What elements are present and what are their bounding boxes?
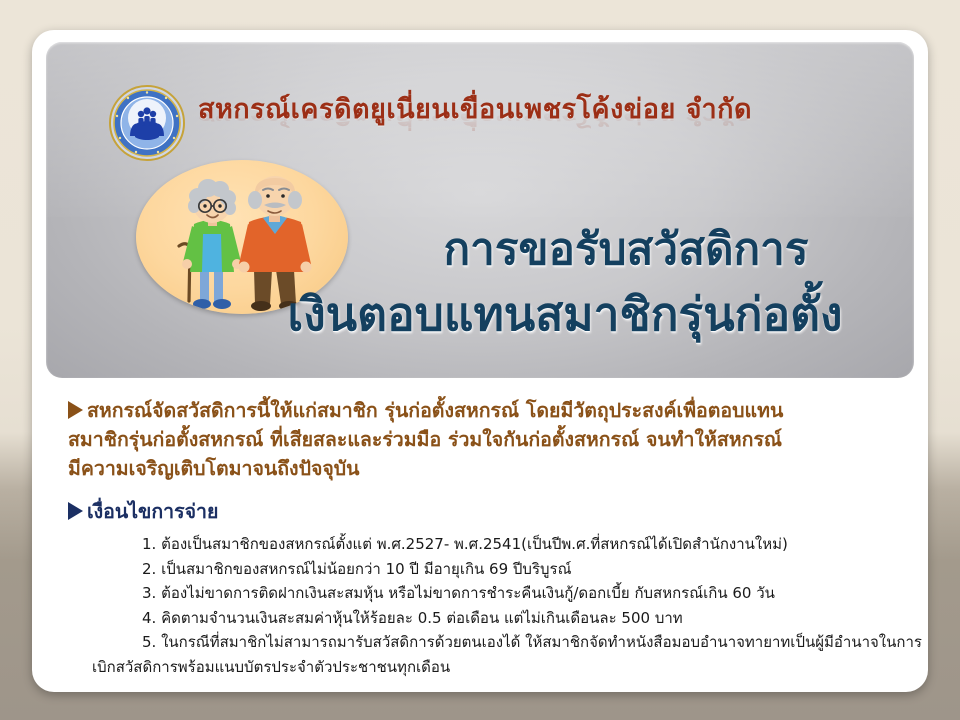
- intro-line-1-text: สหกรณ์จัดสวัสดิการนี้ให้แก่สมาชิก รุ่นก่…: [87, 399, 783, 422]
- intro-paragraph: สหกรณ์จัดสวัสดิการนี้ให้แก่สมาชิก รุ่นก่…: [68, 396, 908, 483]
- triangle-bullet-icon: [68, 401, 83, 419]
- list-item: 1. ต้องเป็นสมาชิกของสหกรณ์ตั้งแต่ พ.ศ.25…: [92, 532, 928, 557]
- slide-title-line-1: การขอรับสวัสดิการ: [346, 218, 906, 282]
- intro-line-1: สหกรณ์จัดสวัสดิการนี้ให้แก่สมาชิก รุ่นก่…: [68, 396, 908, 425]
- list-item: 2. เป็นสมาชิกของสหกรณ์ไม่น้อยกว่า 10 ปี …: [92, 557, 928, 582]
- conditions-heading: เงื่อนไขการจ่าย: [68, 498, 218, 526]
- intro-line-3: มีความเจริญเติบโตมาจนถึงปัจจุบัน: [68, 454, 908, 483]
- slide-title: การขอรับสวัสดิการ เงินตอบแทนสมาชิกรุ่นก่…: [346, 218, 906, 346]
- list-item: 5. ในกรณีที่สมาชิกไม่สามารถมารับสวัสดิกา…: [92, 630, 928, 679]
- conditions-heading-text: เงื่อนไขการจ่าย: [87, 500, 218, 523]
- list-item: 3. ต้องไม่ขาดการติดฝากเงินสะสมหุ้น หรือไ…: [92, 581, 928, 606]
- slide-body: สหกรณ์จัดสวัสดิการนี้ให้แก่สมาชิก รุ่นก่…: [32, 382, 928, 692]
- conditions-list: 1. ต้องเป็นสมาชิกของสหกรณ์ตั้งแต่ พ.ศ.25…: [92, 532, 928, 679]
- organization-name-block: สหกรณ์เครดิตยูเนี่ยนเขื่อนเพชรโค้งข่อย จ…: [198, 90, 898, 168]
- slide-title-line-2: เงินตอบแทนสมาชิกรุ่นก่อตั้ง: [224, 282, 906, 346]
- triangle-bullet-navy-icon: [68, 502, 83, 520]
- list-item-5-part-1: 5. ในกรณีที่สมาชิกไม่สามารถมารับสวัสดิกา…: [142, 633, 922, 651]
- cooperative-logo-icon: [108, 84, 186, 162]
- list-item-5-part-2: เบิกสวัสดิการพร้อมแนบบัตรประจำตัวประชาชน…: [92, 655, 928, 680]
- intro-line-2: สมาชิกรุ่นก่อตั้งสหกรณ์ ที่เสียสละและร่ว…: [68, 425, 908, 454]
- list-item: 4. คิดตามจำนวนเงินสะสมค่าหุ้นให้ร้อยละ 0…: [92, 606, 928, 631]
- header-banner: สหกรณ์เครดิตยูเนี่ยนเขื่อนเพชรโค้งข่อย จ…: [46, 42, 914, 378]
- organization-name-reflection: สหกรณ์เครดิตยูเนี่ยนเขื่อนเพชรโค้งข่อย จ…: [198, 98, 898, 131]
- slide-card: สหกรณ์เครดิตยูเนี่ยนเขื่อนเพชรโค้งข่อย จ…: [32, 30, 928, 692]
